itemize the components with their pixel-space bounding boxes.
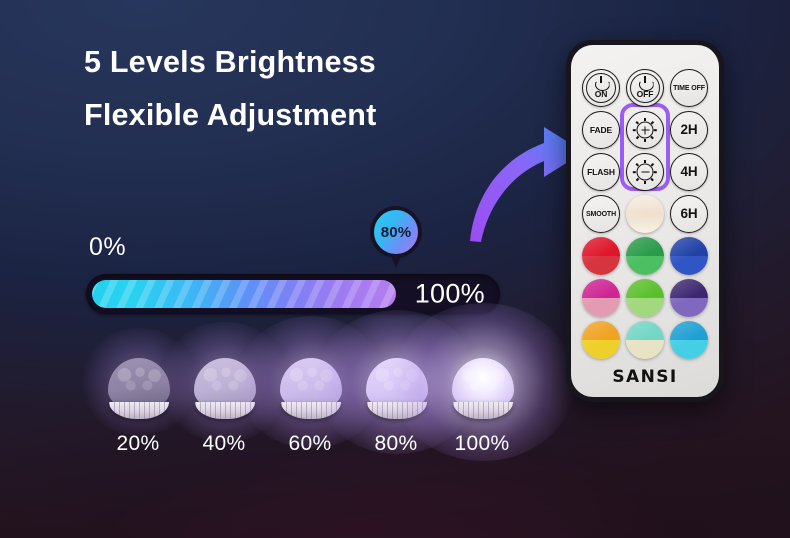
remote-color-purple[interactable] [670, 279, 708, 317]
swatch-bottom [670, 256, 708, 275]
remote-color-light-green[interactable] [626, 279, 664, 317]
remote-button-brightness-down[interactable] [626, 153, 664, 191]
remote-button-brightness-up[interactable] [626, 111, 664, 149]
remote-color-blue[interactable] [670, 237, 708, 275]
remote-color-green[interactable] [626, 237, 664, 275]
remote-button-grid: ON OFF TIME OFF FADE [571, 45, 719, 407]
bulb-base [281, 402, 341, 419]
slider-min-label: 0% [89, 233, 126, 262]
button-label: 2H [680, 123, 697, 137]
remote-color-aqua-cream[interactable] [626, 321, 664, 359]
remote-button-on[interactable]: ON [582, 69, 620, 107]
swatch-top [582, 237, 620, 256]
remote-button-4h[interactable]: 4H [670, 153, 708, 191]
button-label: TIME OFF [673, 85, 705, 92]
brightness-up-icon [633, 118, 658, 143]
remote-button-fade[interactable]: FADE [582, 111, 620, 149]
power-icon [595, 77, 608, 89]
bulb-label: 40% [174, 432, 274, 456]
swatch-bottom [626, 340, 664, 359]
brightness-down-icon [633, 160, 658, 185]
slider-fill [92, 280, 396, 308]
bulb-base [453, 402, 513, 419]
swatch-bottom [670, 340, 708, 359]
brightness-slider[interactable]: 100% [86, 274, 500, 314]
remote-color-orange[interactable] [582, 321, 620, 359]
button-label: FADE [590, 126, 612, 135]
remote-button-off[interactable]: OFF [626, 69, 664, 107]
slider-max-label: 100% [415, 279, 485, 310]
swatch-top [626, 321, 664, 340]
slider-value-badge: 80% [370, 206, 422, 258]
button-label: SMOOTH [586, 211, 616, 218]
swatch-top [626, 237, 664, 256]
button-label: FLASH [587, 168, 615, 177]
button-label: 6H [680, 207, 697, 221]
swatch-top [626, 279, 664, 298]
remote-button-6h[interactable]: 6H [670, 195, 708, 233]
bulb-item [268, 336, 354, 436]
remote-control: ON OFF TIME OFF FADE [566, 40, 724, 402]
bulb-item [440, 336, 526, 436]
swatch-top [626, 195, 664, 214]
swatch-bottom [582, 340, 620, 359]
remote-button-warm-white[interactable] [626, 195, 664, 233]
bulb-base [367, 402, 427, 419]
remote-color-magenta[interactable] [582, 279, 620, 317]
bulb-base [109, 402, 169, 419]
brand-logo: SANSI [571, 367, 719, 387]
bulb-item [182, 336, 268, 436]
swatch-bottom [670, 298, 708, 317]
remote-button-flash[interactable]: FLASH [582, 153, 620, 191]
bulb-label: 100% [432, 432, 532, 456]
swatch-bottom [626, 256, 664, 275]
remote-face: ON OFF TIME OFF FADE [571, 45, 719, 397]
bulb-label: 20% [88, 432, 188, 456]
swatch-bottom [626, 214, 664, 233]
bulb-label: 80% [346, 432, 446, 456]
swatch-top [670, 279, 708, 298]
headline-line-1: 5 Levels Brightness [84, 36, 524, 89]
swatch-top [670, 321, 708, 340]
swatch-bottom [626, 298, 664, 317]
swatch-bottom [582, 298, 620, 317]
bulb-label: 60% [260, 432, 360, 456]
button-label: 4H [680, 165, 697, 179]
swatch-top [670, 237, 708, 256]
bulb-item [354, 336, 440, 436]
bulb-base [195, 402, 255, 419]
bulb-item [96, 336, 182, 436]
remote-button-time-off[interactable]: TIME OFF [670, 69, 708, 107]
remote-button-smooth[interactable]: SMOOTH [582, 195, 620, 233]
remote-color-red[interactable] [582, 237, 620, 275]
swatch-bottom [582, 256, 620, 275]
remote-color-cyan[interactable] [670, 321, 708, 359]
power-icon [639, 77, 652, 89]
swatch-top [582, 321, 620, 340]
slider-thumb[interactable]: 80% [370, 206, 426, 268]
promo-banner: 5 Levels Brightness Flexible Adjustment … [0, 0, 790, 538]
swatch-top [582, 279, 620, 298]
remote-button-2h[interactable]: 2H [670, 111, 708, 149]
